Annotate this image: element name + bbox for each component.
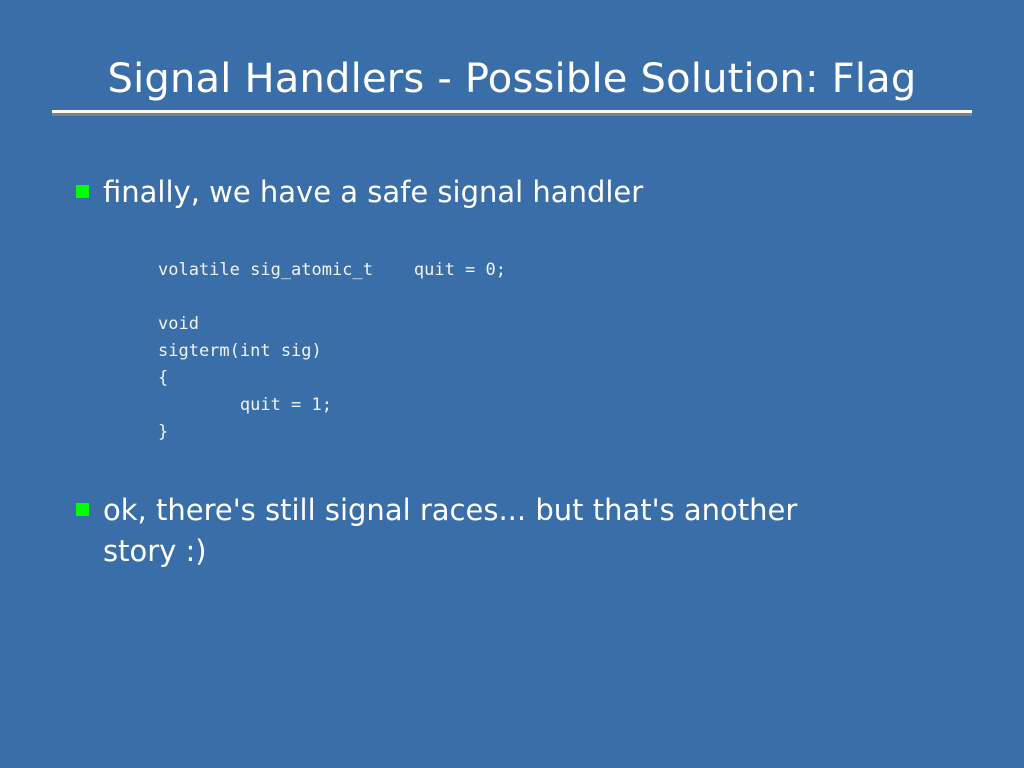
code-block: volatile sig_atomic_t quit = 0; void sig… [158, 257, 976, 446]
square-bullet-icon [76, 503, 89, 516]
title-underline-shadow [52, 113, 972, 116]
square-bullet-icon [76, 185, 89, 198]
bullet-item-2: ok, there's still signal races... but th… [76, 490, 976, 572]
bullet-item-1-label: finally, we have a safe signal handler [103, 172, 873, 213]
page-title: Signal Handlers - Possible Solution: Fla… [52, 52, 972, 106]
title-block: Signal Handlers - Possible Solution: Fla… [52, 52, 972, 116]
slide-body: finally, we have a safe signal handler v… [76, 172, 976, 572]
bullet-item-1: finally, we have a safe signal handler [76, 172, 976, 213]
bullet-item-2-label: ok, there's still signal races... but th… [103, 490, 873, 572]
slide: Signal Handlers - Possible Solution: Fla… [0, 0, 1024, 768]
